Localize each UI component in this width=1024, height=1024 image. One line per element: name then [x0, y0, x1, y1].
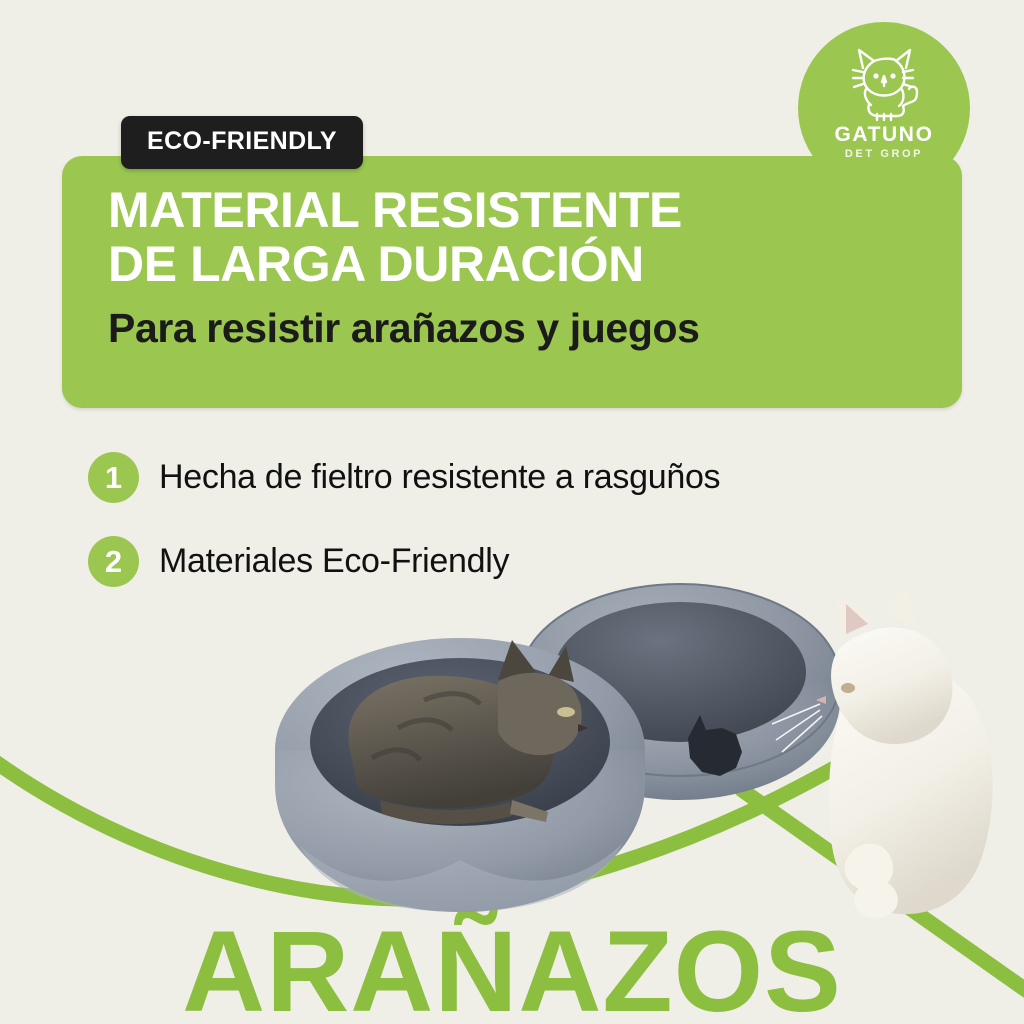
eco-friendly-badge: ECO-FRIENDLY [121, 116, 363, 169]
feature-item: 1 Hecha de fieltro resistente a rasguños [88, 452, 720, 503]
feature-label: Hecha de fieltro resistente a rasguños [159, 458, 720, 497]
subheading: Para resistir arañazos y juegos [108, 305, 902, 352]
logo-tagline: DET GROP [845, 149, 923, 160]
feature-number-badge: 1 [88, 452, 139, 503]
feature-item: 2 Materiales Eco-Friendly [88, 536, 720, 587]
cat-line-art-icon [841, 42, 927, 122]
promo-poster: ARAÑAZOS [0, 0, 1024, 1024]
feature-list: 1 Hecha de fieltro resistente a rasguños… [88, 452, 720, 620]
feature-label: Materiales Eco-Friendly [159, 542, 509, 581]
feature-number-badge: 2 [88, 536, 139, 587]
front-cat-bed [275, 638, 645, 912]
logo-brand-name: GATUNO [834, 124, 933, 145]
heading-line-2: DE LARGA DURACIÓN [108, 238, 902, 292]
headline-banner: MATERIAL RESISTENTE DE LARGA DURACIÓN Pa… [62, 156, 962, 408]
heading-line-1: MATERIAL RESISTENTE [108, 184, 902, 238]
brand-logo: GATUNO DET GROP [798, 22, 970, 194]
